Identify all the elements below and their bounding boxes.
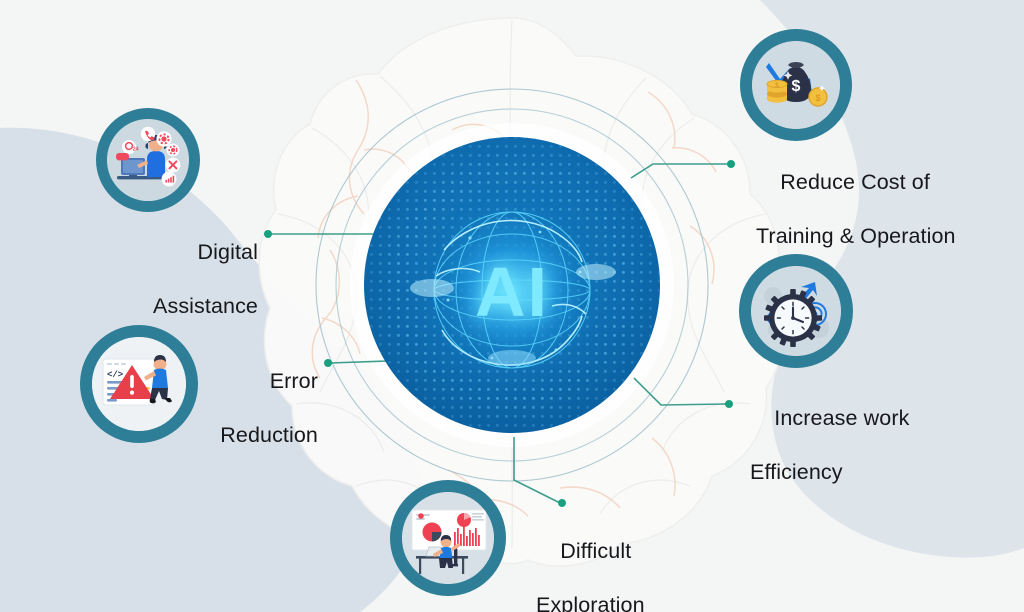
label-difficult-exploration-line2: Exploration	[536, 592, 645, 612]
cost-reduction-icon: $ $ $	[752, 41, 840, 129]
svg-text:$: $	[792, 78, 801, 95]
label-difficult-exploration-line1: Difficult	[560, 539, 631, 563]
badge-digital-assistance[interactable]: 24	[96, 108, 200, 212]
label-digital-assistance-line2: Assistance	[153, 293, 258, 320]
label-reduce-cost: Reduce Cost of Training & Operation	[756, 142, 956, 304]
svg-text:24: 24	[133, 147, 139, 153]
dot-error-reduction	[324, 359, 332, 367]
label-increase-efficiency-line2: Efficiency	[750, 459, 909, 486]
label-increase-efficiency: Increase work Efficiency	[750, 378, 909, 540]
label-digital-assistance-line1: Digital	[198, 240, 258, 264]
label-error-reduction-line2: Reduction	[220, 422, 318, 449]
customer-support-icon: 24	[107, 119, 189, 201]
badge-difficult-exploration[interactable]	[390, 480, 506, 596]
label-difficult-exploration: Difficult Exploration	[536, 511, 645, 612]
svg-text:$: $	[815, 93, 820, 103]
label-error-reduction-line1: Error	[270, 369, 318, 393]
label-reduce-cost-line2: Training & Operation	[756, 223, 956, 250]
infographic-canvas: AI 24	[0, 0, 1024, 612]
dot-digital-assistance	[264, 230, 272, 238]
data-exploration-icon	[402, 492, 494, 584]
dot-reduce-cost	[727, 160, 735, 168]
label-increase-efficiency-line1: Increase work	[774, 406, 909, 430]
badge-reduce-cost[interactable]: $ $ $	[740, 29, 852, 141]
label-reduce-cost-line1: Reduce Cost of	[780, 170, 930, 194]
svg-text:$: $	[775, 83, 779, 90]
label-error-reduction: Error Reduction	[220, 341, 318, 503]
dot-increase-efficiency	[725, 400, 733, 408]
svg-text:</>: </>	[107, 370, 123, 380]
dot-difficult-exploration	[558, 499, 566, 507]
